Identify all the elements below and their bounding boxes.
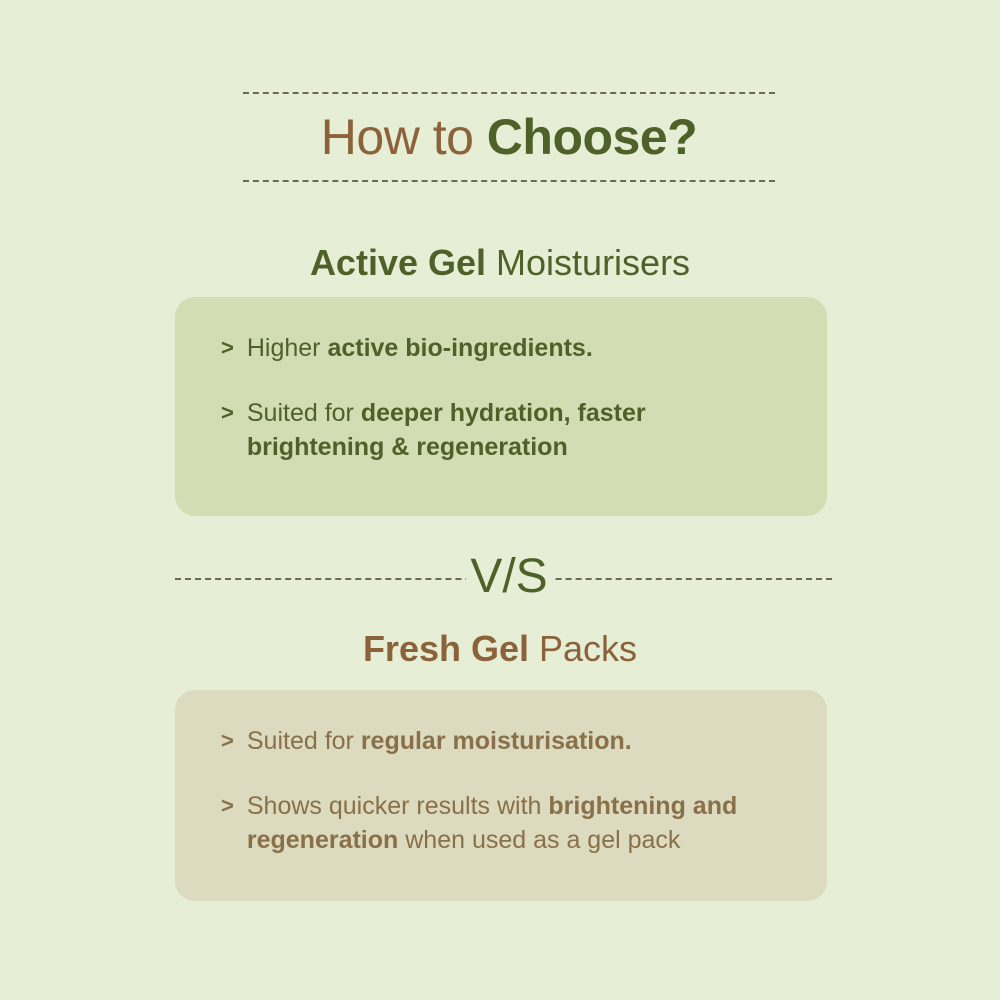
title-bottom-divider bbox=[243, 180, 775, 182]
list-item-bold-1: regular moisturisation. bbox=[361, 727, 632, 755]
list-item-text: Shows quicker results with brightening a… bbox=[247, 789, 787, 857]
list-item-plain-1: Suited for bbox=[247, 727, 361, 755]
list-item-bold-1: active bio-ingredients. bbox=[327, 334, 592, 362]
title-green-part: Choose? bbox=[487, 109, 697, 165]
list-item-plain-1: Higher bbox=[247, 334, 328, 362]
list-item-text: Higher active bio-ingredients. bbox=[247, 331, 787, 365]
comparison-infographic: How to Choose? Active Gel Moisturisers >… bbox=[0, 0, 1000, 1000]
section-heading-fresh-light: Packs bbox=[529, 628, 637, 669]
section-heading-fresh-gel: Fresh Gel Packs bbox=[0, 628, 1000, 670]
page-title: How to Choose? bbox=[243, 94, 775, 180]
list-item: > Higher active bio-ingredients. bbox=[221, 331, 787, 365]
title-block: How to Choose? bbox=[243, 92, 775, 182]
list-item-plain-1: Suited for bbox=[247, 399, 361, 427]
title-brown-part: How to bbox=[321, 109, 487, 165]
list-item: > Shows quicker results with brightening… bbox=[221, 789, 787, 857]
chevron-right-icon: > bbox=[221, 396, 234, 430]
chevron-right-icon: > bbox=[221, 789, 234, 823]
chevron-right-icon: > bbox=[221, 724, 234, 758]
list-item: > Suited for deeper hydration, faster br… bbox=[221, 396, 787, 464]
list-item-text: Suited for deeper hydration, faster brig… bbox=[247, 396, 787, 464]
vs-label: V/S bbox=[466, 546, 552, 608]
list-item-text: Suited for regular moisturisation. bbox=[247, 724, 787, 758]
card-fresh-gel-packs: > Suited for regular moisturisation. > S… bbox=[175, 690, 827, 901]
chevron-right-icon: > bbox=[221, 331, 234, 365]
section-heading-fresh-strong: Fresh Gel bbox=[363, 628, 529, 669]
list-item: > Suited for regular moisturisation. bbox=[221, 724, 787, 758]
card-active-gel-moisturisers: > Higher active bio-ingredients. > Suite… bbox=[175, 297, 827, 516]
section-heading-active-gel: Active Gel Moisturisers bbox=[0, 242, 1000, 284]
section-heading-active-light: Moisturisers bbox=[486, 242, 690, 283]
list-item-plain-1: Shows quicker results with bbox=[247, 792, 549, 820]
list-item-plain-2: when used as a gel pack bbox=[398, 826, 680, 854]
section-heading-active-strong: Active Gel bbox=[310, 242, 486, 283]
